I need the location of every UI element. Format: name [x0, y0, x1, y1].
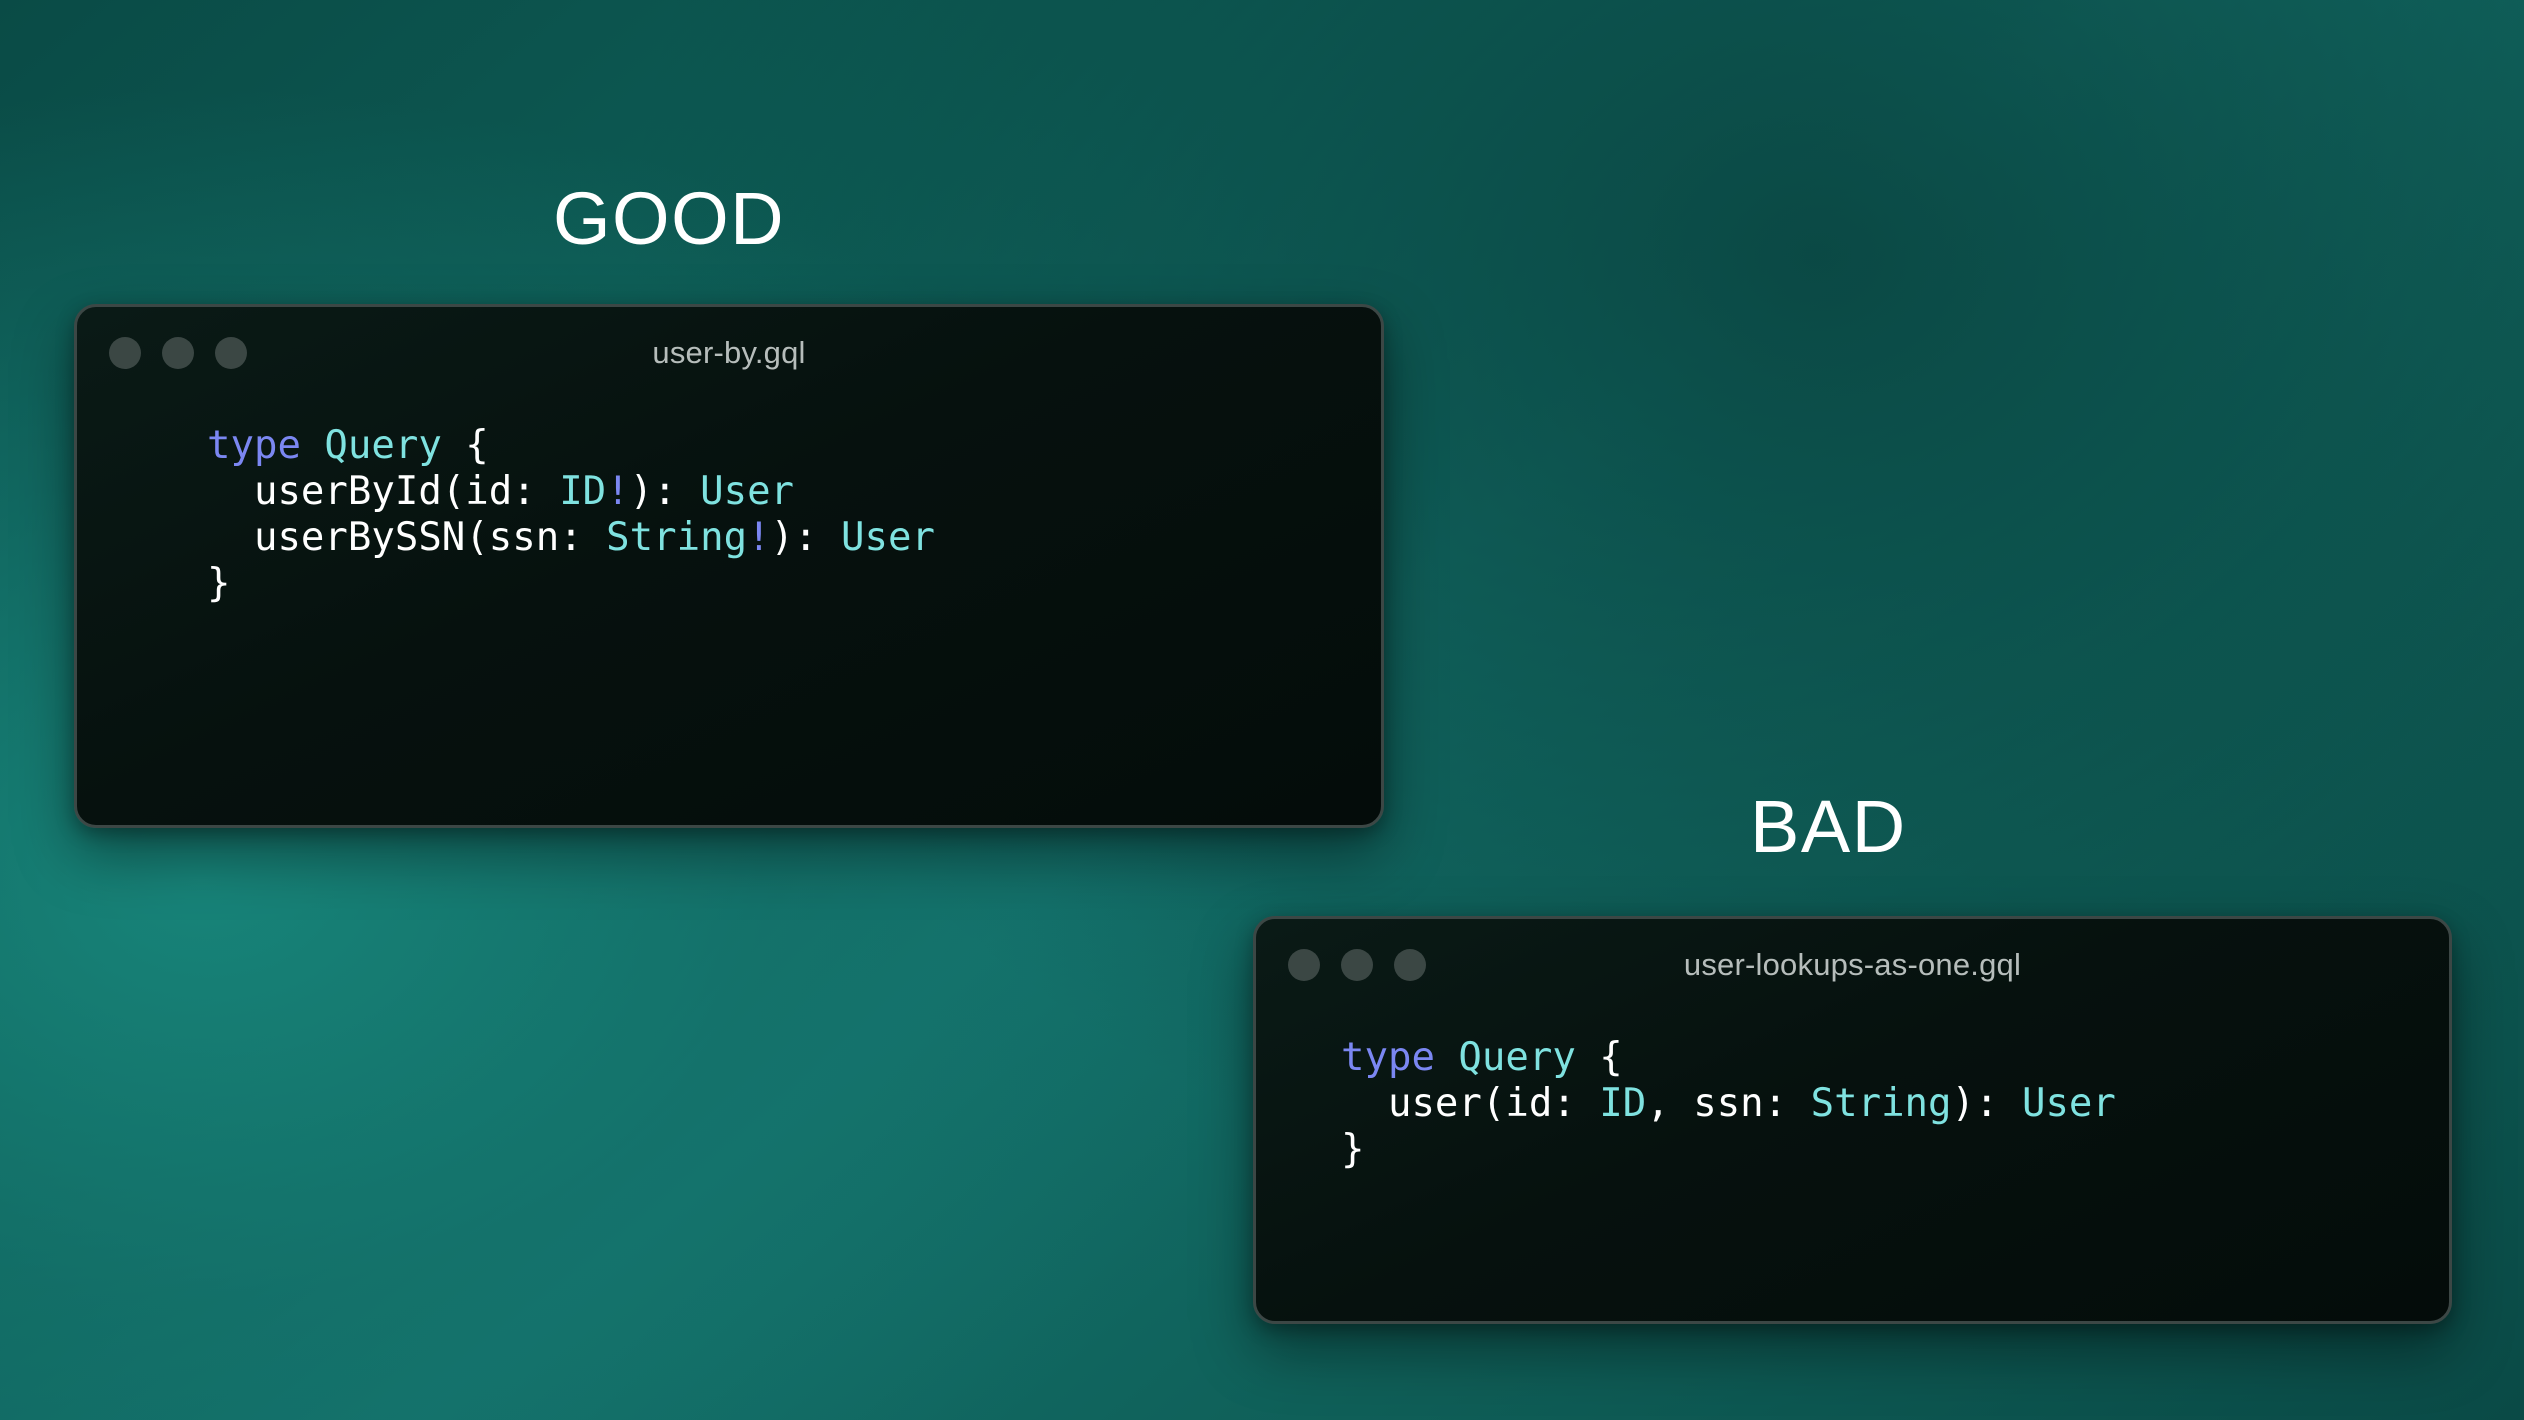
window-dot-close-icon[interactable]: [1288, 949, 1320, 981]
code-token: {: [1599, 1035, 1622, 1080]
code-token: [1576, 1035, 1599, 1080]
code-line: user(id: ID, ssn: String): User: [1341, 1081, 2449, 1127]
code-token: ):: [1952, 1081, 2022, 1126]
window-dot-maximize-icon[interactable]: [215, 337, 247, 369]
code-token: User: [2022, 1081, 2116, 1126]
code-token: user(id:: [1341, 1081, 1599, 1126]
window-controls: [109, 337, 247, 369]
window-controls: [1288, 949, 1426, 981]
code-token: ID: [1599, 1081, 1646, 1126]
code-token: [1435, 1035, 1458, 1080]
window-dot-close-icon[interactable]: [109, 337, 141, 369]
code-token: , ssn:: [1646, 1081, 1810, 1126]
code-line: userBySSN(ssn: String!): User: [207, 515, 1381, 561]
code-block: type Query { user(id: ID, ssn: String): …: [1256, 1011, 2449, 1173]
window-titlebar: user-by.gql: [77, 307, 1381, 399]
code-token: userBySSN(ssn:: [207, 515, 606, 560]
caption-bad: BAD: [1750, 790, 1907, 864]
code-token: User: [700, 469, 794, 514]
slide-canvas: GOOD user-by.gql type Query { userById(i…: [0, 0, 2524, 1420]
code-token: !: [606, 469, 629, 514]
code-token: ID: [559, 469, 606, 514]
window-dot-minimize-icon[interactable]: [162, 337, 194, 369]
code-line: type Query {: [1341, 1035, 2449, 1081]
code-token: [301, 423, 324, 468]
code-block: type Query { userById(id: ID!): User use…: [77, 399, 1381, 607]
code-token: }: [1341, 1127, 1364, 1172]
code-token: User: [841, 515, 935, 560]
code-token: type: [207, 423, 301, 468]
caption-good: GOOD: [553, 182, 785, 256]
code-token: !: [747, 515, 770, 560]
code-token: ):: [771, 515, 841, 560]
code-token: ):: [630, 469, 700, 514]
code-line: }: [207, 561, 1381, 607]
code-token: String: [606, 515, 747, 560]
window-dot-maximize-icon[interactable]: [1394, 949, 1426, 981]
window-title: user-lookups-as-one.gql: [1256, 947, 2449, 983]
window-title: user-by.gql: [77, 335, 1381, 371]
code-token: userById(id:: [207, 469, 559, 514]
code-token: {: [465, 423, 488, 468]
code-line: }: [1341, 1127, 2449, 1173]
code-line: type Query {: [207, 423, 1381, 469]
code-line: userById(id: ID!): User: [207, 469, 1381, 515]
code-window-good: user-by.gql type Query { userById(id: ID…: [74, 304, 1384, 828]
window-titlebar: user-lookups-as-one.gql: [1256, 919, 2449, 1011]
code-token: [442, 423, 465, 468]
code-window-bad: user-lookups-as-one.gql type Query { use…: [1253, 916, 2452, 1324]
code-token: String: [1811, 1081, 1952, 1126]
code-token: Query: [324, 423, 441, 468]
code-token: }: [207, 561, 230, 606]
code-token: Query: [1458, 1035, 1575, 1080]
code-token: type: [1341, 1035, 1435, 1080]
window-dot-minimize-icon[interactable]: [1341, 949, 1373, 981]
